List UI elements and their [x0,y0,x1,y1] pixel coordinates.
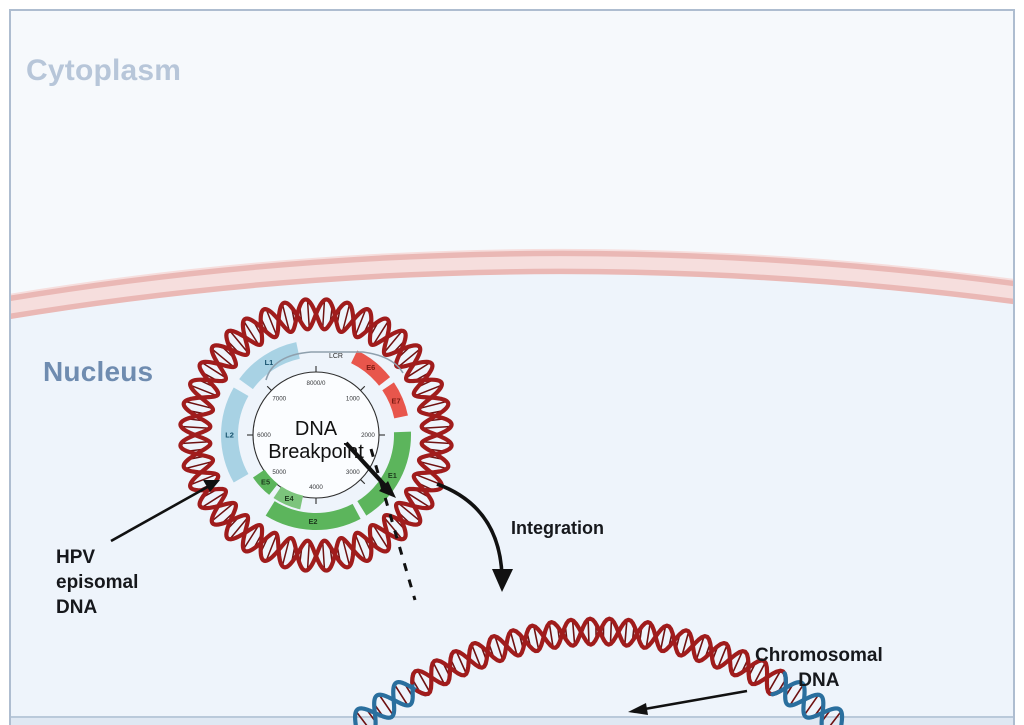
figure-canvas: 8000/01000200030004000500060007000 E6E7E… [0,0,1024,725]
integration-label: Integration [511,517,604,541]
chromosomal-leader-arrow [628,691,747,715]
integration-arrow [437,484,513,592]
cytoplasm-label: Cytoplasm [26,54,181,88]
figure-frame: 8000/01000200030004000500060007000 E6E7E… [9,9,1015,725]
nucleus-label: Nucleus [43,356,153,388]
hpv-episomal-dna-label: HPV episomal DNA [56,545,138,620]
chromosomal-dna-label: Chromosomal DNA [755,643,883,693]
annotation-arrows [11,11,1015,725]
hpv-leader-arrow [111,480,220,541]
